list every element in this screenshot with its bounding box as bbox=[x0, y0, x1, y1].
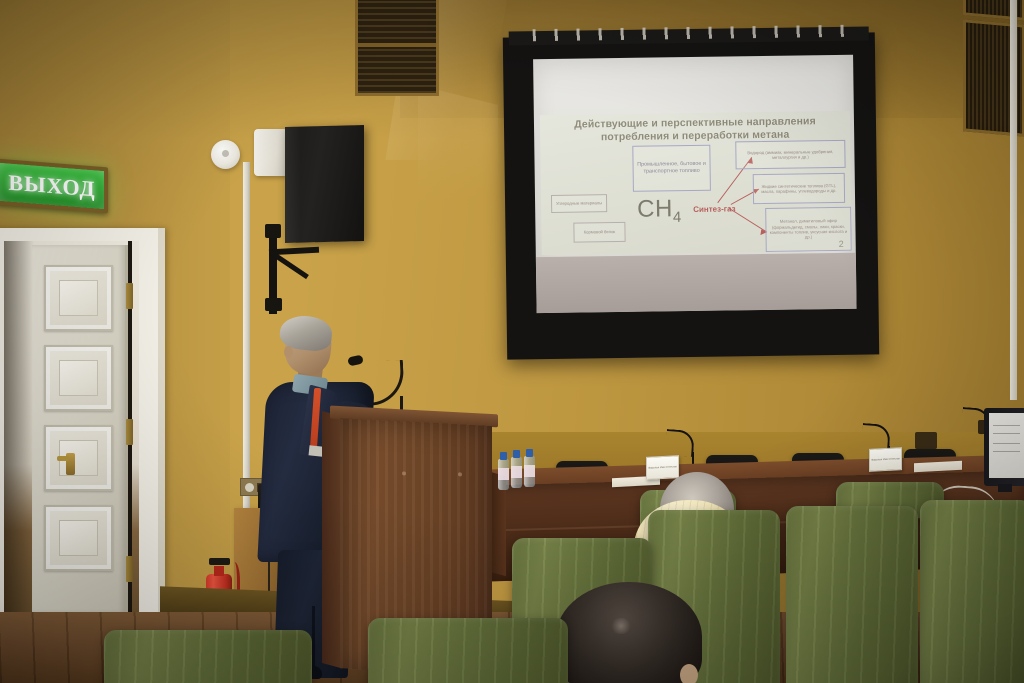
alarm-bell-icon bbox=[211, 140, 240, 169]
formula-subscript: 4 bbox=[673, 209, 682, 226]
speaker-wall-bracket bbox=[263, 228, 315, 314]
corridor-shadow bbox=[4, 241, 34, 613]
exit-sign-label: ВЫХОД bbox=[8, 170, 95, 203]
audience-hair bbox=[556, 582, 702, 683]
bottle-label bbox=[524, 465, 535, 477]
projection-screen: Действующие и перспективные направления … bbox=[503, 32, 879, 359]
presidium-monitor bbox=[984, 408, 1024, 486]
door-panel bbox=[44, 265, 113, 331]
screen-unlit-area bbox=[536, 253, 857, 313]
slide-page-number: 2 bbox=[839, 239, 844, 249]
wall-conduit-pipe bbox=[243, 162, 250, 512]
slide-box-liquid-fuel: Жидкие синтетические топлива (GTL), масл… bbox=[753, 173, 845, 204]
name-placard-text: Фамилия Имя Отчество bbox=[871, 457, 900, 462]
monitor-text-line bbox=[993, 451, 1020, 452]
door-hinge bbox=[126, 419, 133, 445]
wall-conduit-pipe bbox=[1010, 0, 1017, 400]
doorway bbox=[0, 228, 165, 648]
door-panel bbox=[44, 425, 113, 491]
vent-rail bbox=[358, 43, 436, 47]
black-loudspeaker bbox=[285, 125, 364, 243]
slide-box-liquid-fuel-text: Жидкие синтетические топлива (GTL), масл… bbox=[756, 182, 842, 194]
slide-label-syngas: Синтез-газ bbox=[693, 204, 736, 214]
slide-box-carbon-materials: Углеродные материалы bbox=[551, 194, 607, 213]
audience-ear bbox=[680, 664, 698, 683]
name-placard: Фамилия Имя Отчество bbox=[869, 447, 902, 472]
slide-formula-ch4: CH4 bbox=[637, 195, 682, 226]
exit-sign: ВЫХОД bbox=[0, 159, 108, 214]
bracket-bottom-clamp bbox=[265, 298, 282, 311]
slide-box-fuel-text: Промышленное, бытовое и транспортное топ… bbox=[636, 161, 708, 176]
door-opening bbox=[4, 241, 139, 613]
mic-gooseneck bbox=[665, 429, 695, 457]
slide-box-hydrogen: Водород (аммиак, минеральные удобрения, … bbox=[735, 140, 845, 170]
door-panel bbox=[44, 345, 113, 411]
bracket-top-clamp bbox=[265, 224, 281, 238]
audience-chair bbox=[786, 506, 918, 683]
audience-member-dark-hair bbox=[556, 582, 702, 683]
power-socket-icon bbox=[245, 483, 254, 492]
slide-box-hydrogen-text: Водород (аммиак, минеральные удобрения, … bbox=[738, 148, 842, 160]
screen-surface: Действующие и перспективные направления … bbox=[533, 55, 857, 313]
formula-base: CH bbox=[637, 195, 673, 222]
monitor-stand bbox=[998, 484, 1012, 492]
bottle-cap bbox=[526, 449, 533, 457]
exit-sign-panel: ВЫХОД bbox=[0, 163, 104, 209]
bottle-cap bbox=[500, 452, 507, 460]
audience-chair bbox=[104, 630, 312, 683]
monitor-screen bbox=[989, 413, 1024, 478]
conference-hall-photo: ВЫХОД Действ bbox=[0, 0, 1024, 683]
bottle-cap bbox=[513, 450, 520, 458]
slide-box-feed-protein-text: Кормовой белок bbox=[584, 229, 616, 235]
mic-gooseneck bbox=[861, 423, 891, 451]
podium-side-panel bbox=[322, 411, 342, 668]
bottle-label bbox=[498, 468, 509, 480]
ventilation-grille bbox=[355, 0, 439, 96]
white-loudspeaker bbox=[254, 129, 287, 176]
water-bottle bbox=[524, 449, 535, 487]
slide-box-carbon-materials-text: Углеродные материалы bbox=[556, 201, 602, 207]
presentation-slide: Действующие и перспективные направления … bbox=[540, 111, 852, 255]
slide-box-feed-protein: Кормовой белок bbox=[573, 222, 625, 243]
presenter-ear bbox=[284, 346, 293, 358]
extinguisher-neck bbox=[214, 566, 224, 576]
door-handle[interactable] bbox=[66, 453, 75, 475]
monitor-text-line bbox=[993, 425, 1020, 426]
podium-fastener bbox=[458, 472, 462, 476]
podium-fastener bbox=[402, 471, 406, 475]
door-hinge bbox=[126, 556, 133, 582]
audience-chair bbox=[920, 500, 1024, 683]
slide-box-methanol-text: Метанол, диметиловый эфир (формальдегид,… bbox=[768, 218, 848, 241]
water-bottle bbox=[498, 452, 509, 490]
door-leaf[interactable] bbox=[32, 245, 128, 613]
monitor-text-line bbox=[993, 433, 1020, 434]
door-hinge bbox=[126, 283, 133, 309]
name-placard-text: Фамилия Имя Отчество bbox=[648, 465, 677, 470]
slide-box-fuel: Промышленное, бытовое и транспортное топ… bbox=[632, 145, 711, 192]
extinguisher-handle bbox=[209, 558, 230, 565]
water-bottle bbox=[511, 450, 522, 488]
bottle-label bbox=[511, 466, 522, 478]
monitor-text-line bbox=[993, 443, 1020, 444]
audience-hair-crown bbox=[610, 618, 632, 634]
audience-chair bbox=[368, 618, 568, 683]
wall-outlet-icon bbox=[915, 432, 937, 449]
door-panel bbox=[44, 505, 113, 571]
